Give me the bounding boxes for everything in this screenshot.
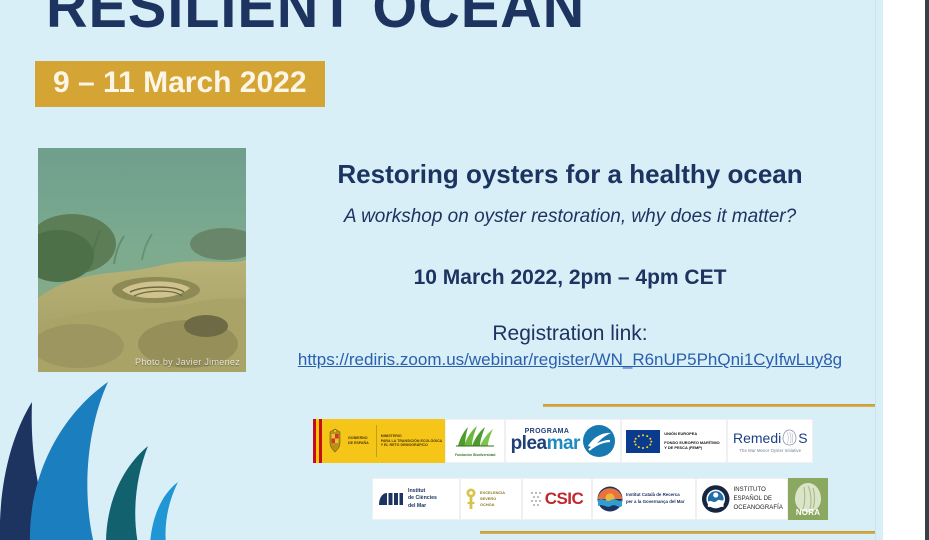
icatmar-sun-sea-icon [597,486,623,512]
logo-nora: NORA [788,478,828,520]
underwater-oyster-photo: Photo by Javier Jimenez [38,148,246,372]
eu-label-text: UNIÓN EUROPEA FONDO EUROPEO MARÍTIMO Y D… [664,431,719,452]
wave-decoration [0,374,230,540]
funder-logo-row-primary: GOBIERNO DE ESPAÑA MINISTERIO PARA LA TR… [313,419,813,463]
registration-link[interactable]: https://rediris.zoom.us/webinar/register… [298,350,842,370]
logo-icatmar: Institut Català de Recerca per a la Gove… [592,478,696,520]
remedies-word-b: S [798,431,807,445]
right-white-margin [883,0,929,540]
icatmar-label-text: Institut Català de Recerca per a la Gove… [626,492,685,506]
logo-excelencia-severo-ochoa: EXCELENCIA SEVERO OCHOA [460,478,522,520]
session-datetime: 10 March 2022, 2pm – 4pm CET [250,266,890,290]
logo-gobierno-de-espana: GOBIERNO DE ESPAÑA MINISTERIO PARA LA TR… [313,419,445,463]
pleamar-word-b: mar [547,433,580,454]
gov-name-text: GOBIERNO DE ESPAÑA [348,436,372,446]
logo-csic: CSIC [522,478,592,520]
poster-slide: RESILIENT OCEAN 9 – 11 March 2022 [0,0,929,540]
icm-label-text: Institut de Ciències del Mar [408,488,437,511]
ministry-name-text: MINISTERIO PARA LA TRANSICIÓN ECOLÓGICA … [381,434,446,449]
logo-institut-de-ciencies-del-mar: Institut de Ciències del Mar [372,478,460,520]
severo-ochoa-label-text: EXCELENCIA SEVERO OCHOA [480,490,505,508]
logo-remedies: Remedi S The Mar Menor Oyster Initiative [727,419,813,463]
severo-ochoa-mark-icon [465,487,477,511]
logo-instituto-espanol-de-oceanografia: INSTITUTO ESPAÑOL DE OCEANOGRAFÍA [696,478,788,520]
ieo-label-text: INSTITUTO ESPAÑOL DE OCEANOGRAFÍA [733,486,783,513]
logo-programa-pleamar: PROGRAMA pleamar [505,419,621,463]
gold-divider-top [543,404,883,407]
grass-leaves-icon [454,425,496,447]
pleamar-word-a: plea [511,433,547,454]
csic-mark-icon [531,491,543,507]
session-text-block: Restoring oysters for a healthy ocean A … [250,155,890,370]
session-title: Restoring oysters for a healthy ocean [250,160,890,190]
event-date-badge: 9 – 11 March 2022 [35,61,325,107]
gold-divider-bottom [480,531,883,534]
right-window-edge [925,0,929,540]
logo-divider [376,425,377,458]
session-subtitle: A workshop on oyster restoration, why do… [250,206,890,228]
oyster-shell-icon [782,429,797,446]
pleamar-wave-icon [582,424,616,458]
spain-flag-icon [313,419,322,463]
funder-logo-row-secondary: Institut de Ciències del Mar EXCELENCIA … [372,478,828,520]
logo-union-europea-femp: UNIÓN EUROPEA FONDO EUROPEO MARÍTIMO Y D… [621,419,727,463]
fb-caption: Fundación Biodiversidad [450,453,500,457]
registration-label: Registration link: [250,322,890,346]
remedies-word-a: Remedi [733,431,781,445]
logo-fundacion-biodiversidad: Fundación Biodiversidad [445,419,505,463]
spain-coat-of-arms-icon [325,428,345,454]
remedies-tagline: The Mar Menor Oyster Initiative [739,448,801,453]
icm-mark-icon [377,489,405,509]
photo-credit: Photo by Javier Jimenez [135,357,240,367]
page-title: RESILIENT OCEAN [46,0,585,41]
csic-wordmark: CSIC [545,489,584,509]
nora-wordmark: NORA [788,508,828,517]
ieo-circle-icon [701,484,730,514]
eu-flag-icon [626,430,660,453]
